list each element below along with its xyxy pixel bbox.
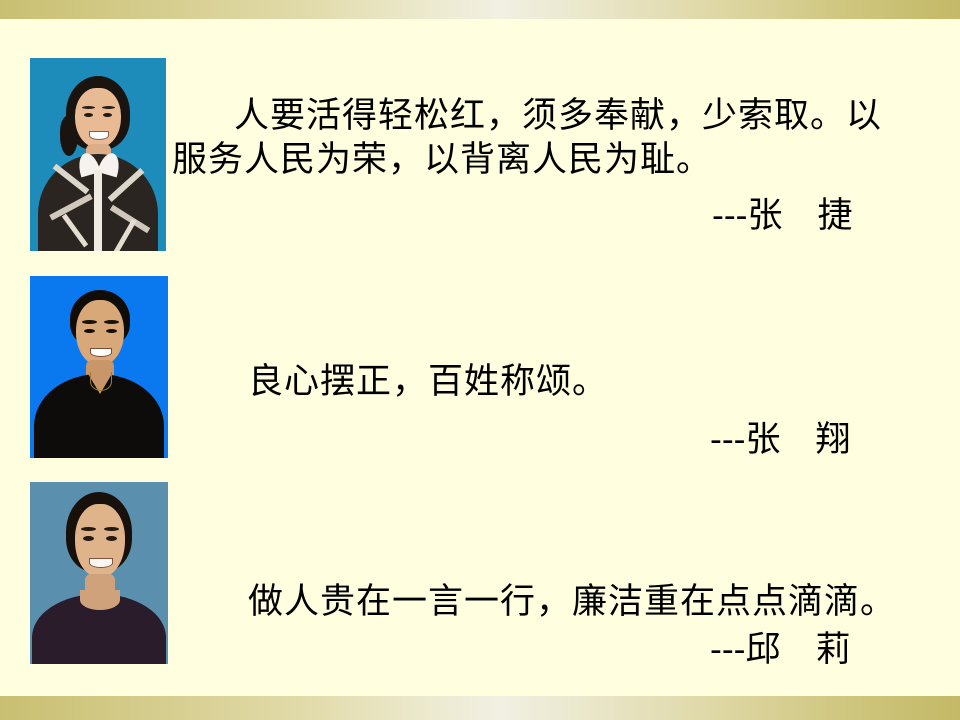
bottom-decorative-band xyxy=(0,696,960,720)
mouth xyxy=(89,131,109,140)
quote-1-attribution: ---张 捷 xyxy=(172,194,932,238)
right-eyebrow xyxy=(104,320,119,324)
quote-block-1: 人要活得轻松红，须多奉献，少索取。以 服务人民为荣，以背离人民为耻。 ---张 … xyxy=(172,94,932,238)
top-neckline xyxy=(80,590,120,610)
quote-2-line-1: 良心摆正，百姓称颂。 xyxy=(248,360,948,404)
mouth xyxy=(89,558,113,568)
left-eyebrow xyxy=(82,320,97,324)
top-decorative-band xyxy=(0,0,960,19)
left-eye xyxy=(84,113,93,117)
quote-block-3: 做人贵在一言一行，廉洁重在点点滴滴。 ---邱 莉 xyxy=(248,580,948,672)
right-eye xyxy=(106,536,117,541)
portrait-photo-qiu-li xyxy=(30,482,168,664)
left-eyebrow xyxy=(82,106,95,109)
quote-block-2: 良心摆正，百姓称颂。 ---张 翔 xyxy=(248,360,948,462)
quote-1-line-1: 人要活得轻松红，须多奉献，少索取。以 xyxy=(172,94,932,138)
right-eyebrow xyxy=(104,527,119,531)
left-eye xyxy=(84,329,95,333)
portrait-photo-zhang-xiang xyxy=(30,276,168,458)
right-eye xyxy=(106,329,117,333)
necklace-cord xyxy=(90,372,112,391)
quote-3-attribution: ---邱 莉 xyxy=(248,628,948,672)
blouse-zipper-placket xyxy=(94,170,102,251)
quote-3-line-1: 做人贵在一言一行，廉洁重在点点滴滴。 xyxy=(248,580,948,624)
quote-1-line-2: 服务人民为荣，以背离人民为耻。 xyxy=(172,138,932,182)
right-eye xyxy=(103,113,112,117)
right-eyebrow xyxy=(102,106,115,109)
quote-2-attribution: ---张 翔 xyxy=(248,418,948,462)
left-eye xyxy=(83,536,94,541)
left-eyebrow xyxy=(81,527,96,531)
mouth xyxy=(90,348,112,357)
portrait-photo-zhang-jie xyxy=(30,58,166,251)
presentation-slide: 人要活得轻松红，须多奉献，少索取。以 服务人民为荣，以背离人民为耻。 ---张 … xyxy=(0,0,960,720)
